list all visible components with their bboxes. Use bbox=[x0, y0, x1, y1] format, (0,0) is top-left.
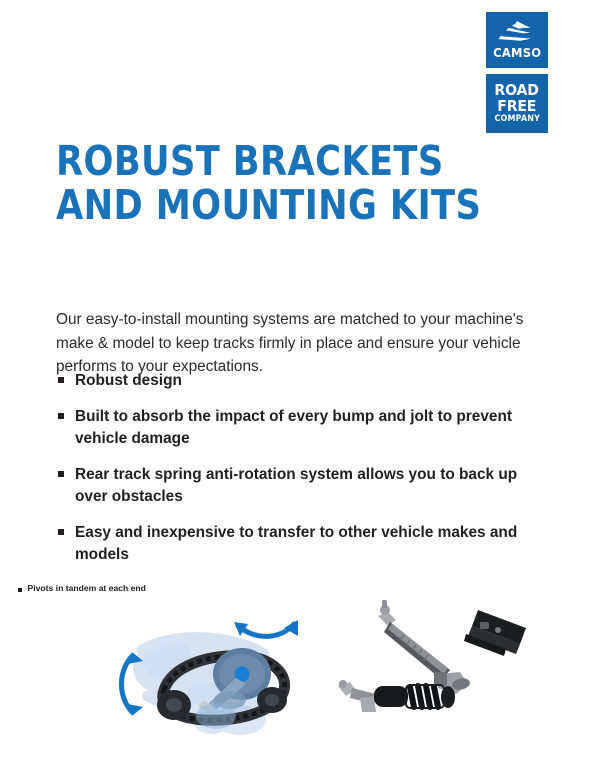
feature-bullet-list: Robust design Built to absorb the impact… bbox=[58, 370, 528, 580]
square-bullet-icon bbox=[58, 413, 64, 419]
list-item-label: Easy and inexpensive to transfer to othe… bbox=[75, 522, 528, 566]
camso-swoosh-icon bbox=[497, 19, 537, 45]
page-title-line-1: ROBUST BRACKETS bbox=[56, 139, 460, 183]
arrow-head-down bbox=[128, 704, 143, 716]
camso-logo-tile: CAMSO bbox=[486, 12, 548, 68]
square-bullet-icon bbox=[18, 588, 22, 592]
list-item: Easy and inexpensive to transfer to othe… bbox=[58, 522, 528, 566]
footnote-label: Pivots in tandem at each end bbox=[28, 583, 146, 594]
rail-bracket-part bbox=[464, 610, 526, 656]
square-bullet-icon bbox=[58, 471, 64, 477]
brand-logo-stack: CAMSO ROAD FREE COMPANY bbox=[486, 12, 548, 133]
list-item-label: Built to absorb the impact of every bump… bbox=[75, 406, 528, 450]
intro-paragraph: Our easy-to-install mounting systems are… bbox=[56, 308, 524, 379]
square-bullet-icon bbox=[58, 529, 64, 535]
list-item: Built to absorb the impact of every bump… bbox=[58, 406, 528, 450]
footnote: Pivots in tandem at each end bbox=[18, 583, 146, 594]
bracket-hardware-graphic bbox=[330, 594, 535, 729]
list-item-label: Robust design bbox=[75, 370, 182, 392]
page-title-line-2: AND MOUNTING KITS bbox=[56, 183, 460, 227]
badge-line-company: COMPANY bbox=[494, 115, 540, 124]
list-item: Rear track spring anti-rotation system a… bbox=[58, 464, 528, 508]
camso-wordmark: CAMSO bbox=[493, 47, 541, 60]
square-bullet-icon bbox=[58, 377, 64, 383]
track-system-illustration bbox=[112, 604, 330, 744]
spring-shock-assembly bbox=[338, 680, 455, 712]
track-system-graphic bbox=[112, 604, 330, 744]
adjustable-link-arm bbox=[378, 600, 471, 694]
page-title: ROBUST BRACKETS AND MOUNTING KITS bbox=[56, 139, 526, 227]
list-item: Robust design bbox=[58, 370, 528, 392]
list-item-label: Rear track spring anti-rotation system a… bbox=[75, 464, 528, 508]
badge-line-free: FREE bbox=[497, 99, 536, 114]
bracket-hardware-illustration bbox=[330, 594, 535, 729]
rotation-arrow-left bbox=[122, 656, 133, 712]
road-free-company-badge: ROAD FREE COMPANY bbox=[486, 74, 548, 133]
